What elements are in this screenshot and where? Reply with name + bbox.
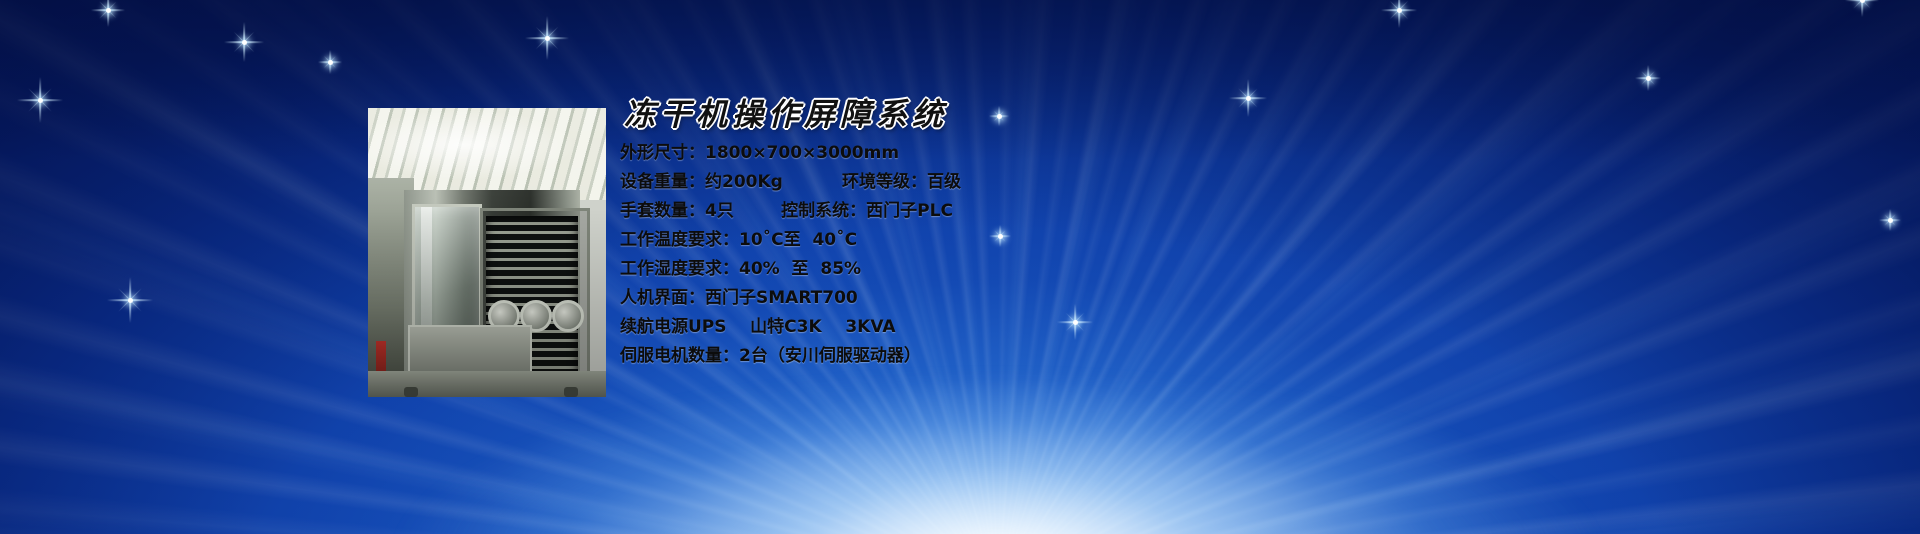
spec-line-weight-grade: 设备重量：约200Kg 环境等级：百级 (620, 174, 1520, 191)
product-text-block: 冻干机操作屏障系统 外形尺寸：1800×700×3000mm 设备重量：约200… (620, 100, 1520, 377)
spec-line-gloves-control: 手套数量：4只 控制系统：西门子PLC (620, 203, 1520, 220)
product-banner: 冻干机操作屏障系统 外形尺寸：1800×700×3000mm 设备重量：约200… (0, 0, 1920, 534)
spec-line-servo: 伺服电机数量：2台（安川伺服驱动器） (620, 348, 1520, 365)
page-title: 冻干机操作屏障系统 (624, 100, 1520, 131)
spec-line-temperature: 工作温度要求：10˚C至 40˚C (620, 232, 1520, 249)
spec-line-ups: 续航电源UPS 山特C3K 3KVA (620, 319, 1520, 336)
spec-line-humidity: 工作湿度要求：40% 至 85% (620, 261, 1520, 278)
photo-shading (368, 108, 606, 397)
product-photo (368, 108, 606, 397)
product-photo-scene (368, 108, 606, 397)
spec-line-hmi: 人机界面：西门子SMART700 (620, 290, 1520, 307)
spec-line-dimensions: 外形尺寸：1800×700×3000mm (620, 145, 1520, 162)
